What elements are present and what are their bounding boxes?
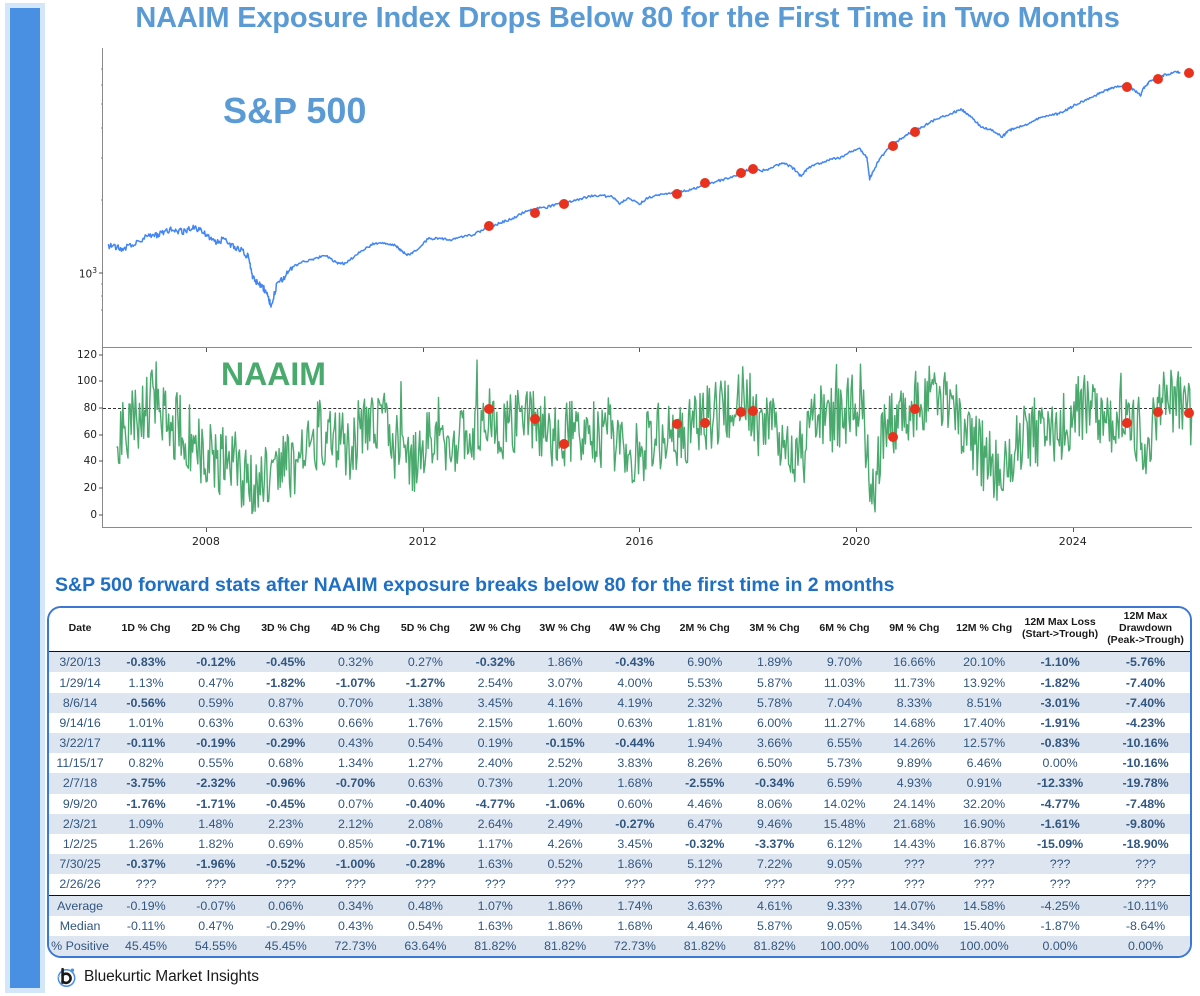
cell-value: 3.66% <box>740 733 810 753</box>
cell-value: 5.12% <box>670 854 740 874</box>
cell-value: 4.46% <box>670 916 740 936</box>
table-subtitle: S&P 500 forward stats after NAAIM exposu… <box>55 574 894 597</box>
cell-value: 81.82% <box>460 936 530 956</box>
cell-value: 0.63% <box>251 713 321 733</box>
spx-signal-marker <box>1184 68 1194 78</box>
spx-line-series <box>103 48 1192 348</box>
table-row[interactable]: 8/6/14-0.56%0.59%0.87%0.70%1.38%3.45%4.1… <box>49 693 1190 713</box>
cell-value: 81.82% <box>740 936 810 956</box>
naaim-signal-marker <box>736 407 746 417</box>
spx-ytick-minor <box>101 104 104 105</box>
cell-value: 15.48% <box>810 814 880 834</box>
column-header-2m-chg[interactable]: 2M % Chg <box>670 608 740 652</box>
spx-plot-area: S&P 500 103 <box>103 48 1192 348</box>
cell-value: 14.26% <box>879 733 949 753</box>
cell-value: 8.06% <box>740 794 810 814</box>
cell-value: 2.23% <box>251 814 321 834</box>
column-header-4w-chg[interactable]: 4W % Chg <box>600 608 670 652</box>
cell-value: 100.00% <box>949 936 1019 956</box>
cell-negative: -4.77% <box>1019 794 1101 814</box>
naaim-ytick <box>99 408 103 409</box>
naaim-xtick <box>639 528 640 532</box>
cell-value: 21.68% <box>879 814 949 834</box>
cell-negative: -10.16% <box>1101 753 1190 773</box>
cell-value: 0.54% <box>390 916 460 936</box>
cell-value: 3.63% <box>670 895 740 916</box>
cell-negative: -0.83% <box>111 652 181 673</box>
cell-value: 6.50% <box>740 753 810 773</box>
cell-value: 100.00% <box>810 936 880 956</box>
cell-value: 8.26% <box>670 753 740 773</box>
cell-value: 0.00% <box>1101 936 1190 956</box>
naaim-xtick <box>423 528 424 532</box>
cell-negative: -0.40% <box>390 794 460 814</box>
cell-negative: -0.28% <box>390 854 460 874</box>
naaim-xtick <box>856 528 857 532</box>
cell-negative: -0.52% <box>251 854 321 874</box>
cell-value: 0.69% <box>251 834 321 854</box>
row-date: 3/22/17 <box>49 733 111 753</box>
footer: Bluekurtic Market Insights <box>56 966 259 987</box>
cell-value: 1.89% <box>740 652 810 673</box>
spx-signal-marker <box>559 199 569 209</box>
row-date: 7/30/25 <box>49 854 111 874</box>
cell-value: 0.06% <box>251 895 321 916</box>
cell-value: 2.15% <box>460 713 530 733</box>
summary-row[interactable]: Median-0.11%0.47%-0.29%0.43%0.54%1.63%1.… <box>49 916 1190 936</box>
cell-value: 0.27% <box>390 652 460 673</box>
table-row[interactable]: 2/26/26?????????????????????????????????… <box>49 874 1190 895</box>
table-row[interactable]: 2/7/18-3.75%-2.32%-0.96%-0.70%0.63%0.73%… <box>49 773 1190 793</box>
summary-row-label: Average <box>49 895 111 916</box>
cell-value: 24.14% <box>879 794 949 814</box>
column-header-3w-chg[interactable]: 3W % Chg <box>530 608 600 652</box>
cell-value: 2.08% <box>390 814 460 834</box>
cell-unknown: ??? <box>879 874 949 895</box>
cell-unknown: ??? <box>321 874 391 895</box>
naaim-ytick <box>99 514 103 515</box>
cell-value: 0.19% <box>460 733 530 753</box>
naaim-x-axis <box>102 527 1192 528</box>
column-header-3m-chg[interactable]: 3M % Chg <box>740 608 810 652</box>
table-row[interactable]: 9/14/161.01%0.63%0.63%0.66%1.76%2.15%1.6… <box>49 713 1190 733</box>
naaim-signal-marker <box>888 432 898 442</box>
spx-ytick-minor <box>101 68 104 69</box>
column-header-3d-chg[interactable]: 3D % Chg <box>251 608 321 652</box>
footer-brand: Bluekurtic Market Insights <box>84 968 259 986</box>
cell-negative: -1.27% <box>390 672 460 692</box>
cell-negative: -7.48% <box>1101 794 1190 814</box>
spx-signal-marker <box>530 208 540 218</box>
row-date: 11/15/17 <box>49 753 111 773</box>
cell-value: 5.53% <box>670 672 740 692</box>
table-row[interactable]: 7/30/25-0.37%-1.96%-0.52%-1.00%-0.28%1.6… <box>49 854 1190 874</box>
cell-value: 1.94% <box>670 733 740 753</box>
cell-value: 0.70% <box>321 693 391 713</box>
column-header-5d-chg[interactable]: 5D % Chg <box>390 608 460 652</box>
cell-value: 16.66% <box>879 652 949 673</box>
cell-value: 6.59% <box>810 773 880 793</box>
column-header-12m-max-drawdown[interactable]: 12M Max Drawdown(Peak->Trough) <box>1101 608 1190 652</box>
summary-row[interactable]: % Positive45.45%54.55%45.45%72.73%63.64%… <box>49 936 1190 956</box>
cell-negative: -1.61% <box>1019 814 1101 834</box>
naaim-ytick-label-100: 100 <box>77 375 97 387</box>
cell-negative: -1.00% <box>321 854 391 874</box>
cell-negative: -0.12% <box>181 652 251 673</box>
cell-negative: -1.71% <box>181 794 251 814</box>
sp500-price-chart: S&P 500 103 <box>55 48 1200 348</box>
cell-value: 2.52% <box>530 753 600 773</box>
cell-value: 0.68% <box>251 753 321 773</box>
cell-negative: -10.11% <box>1101 895 1190 916</box>
cell-value: 2.49% <box>530 814 600 834</box>
cell-negative: -0.96% <box>251 773 321 793</box>
cell-unknown: ??? <box>1101 874 1190 895</box>
cell-value: 0.43% <box>321 733 391 753</box>
cell-negative: -7.40% <box>1101 693 1190 713</box>
cell-value: 0.59% <box>181 693 251 713</box>
cell-unknown: ??? <box>1101 854 1190 874</box>
naaim-signal-marker <box>1184 408 1194 418</box>
cell-value: 2.12% <box>321 814 391 834</box>
naaim-signal-marker <box>1153 407 1163 417</box>
cell-value: 1.86% <box>530 916 600 936</box>
spx-ytick-label-1000: 103 <box>79 265 97 280</box>
naaim-ytick <box>99 434 103 435</box>
cell-value: 0.43% <box>321 916 391 936</box>
column-header-4d-chg[interactable]: 4D % Chg <box>321 608 391 652</box>
row-date: 9/14/16 <box>49 713 111 733</box>
cell-value: 9.89% <box>879 753 949 773</box>
cell-value: 4.26% <box>530 834 600 854</box>
cell-negative: -4.77% <box>460 794 530 814</box>
page-title: NAAIM Exposure Index Drops Below 80 for … <box>60 2 1195 35</box>
cell-unknown: ??? <box>670 874 740 895</box>
cell-value: 12.57% <box>949 733 1019 753</box>
cell-negative: -12.33% <box>1019 773 1101 793</box>
cell-value: 1.48% <box>181 814 251 834</box>
cell-value: 2.54% <box>460 672 530 692</box>
cell-negative: -3.01% <box>1019 693 1101 713</box>
table-row[interactable]: 1/2/251.26%1.82%0.69%0.85%-0.71%1.17%4.2… <box>49 834 1190 854</box>
cell-value: 1.68% <box>600 916 670 936</box>
naaim-signal-marker <box>700 418 710 428</box>
cell-value: 0.91% <box>949 773 1019 793</box>
cell-value: 14.43% <box>879 834 949 854</box>
b-logo-icon <box>56 966 77 987</box>
cell-value: 14.68% <box>879 713 949 733</box>
cell-value: 0.66% <box>321 713 391 733</box>
table-row[interactable]: 1/29/141.13%0.47%-1.82%-1.07%-1.27%2.54%… <box>49 672 1190 692</box>
cell-negative: -3.37% <box>740 834 810 854</box>
spx-ytick-minor <box>101 85 104 86</box>
cell-value: 6.12% <box>810 834 880 854</box>
naaim-xtick-label-2012: 2012 <box>409 535 437 548</box>
cell-negative: -3.75% <box>111 773 181 793</box>
naaim-xtick <box>206 528 207 532</box>
cell-value: 0.00% <box>1019 936 1101 956</box>
cell-value: 2.32% <box>670 693 740 713</box>
row-date: 1/2/25 <box>49 834 111 854</box>
cell-negative: -0.29% <box>251 733 321 753</box>
cell-value: 3.45% <box>460 693 530 713</box>
cell-value: 16.87% <box>949 834 1019 854</box>
cell-negative: -0.32% <box>670 834 740 854</box>
cell-unknown: ??? <box>949 854 1019 874</box>
row-date: 2/26/26 <box>49 874 111 895</box>
table-row[interactable]: 3/20/13-0.83%-0.12%-0.45%0.32%0.27%-0.32… <box>49 652 1190 673</box>
spx-signal-marker <box>700 178 710 188</box>
cell-value: 1.86% <box>530 652 600 673</box>
summary-row-label: % Positive <box>49 936 111 956</box>
cell-value: 5.87% <box>740 916 810 936</box>
cell-value: 1.01% <box>111 713 181 733</box>
cell-value: 9.05% <box>810 854 880 874</box>
cell-unknown: ??? <box>879 854 949 874</box>
naaim-signal-marker <box>559 439 569 449</box>
cell-value: 1.17% <box>460 834 530 854</box>
cell-value: 1.20% <box>530 773 600 793</box>
cell-value: 45.45% <box>111 936 181 956</box>
cell-negative: -1.07% <box>321 672 391 692</box>
cell-value: 13.92% <box>949 672 1019 692</box>
cell-negative: -0.27% <box>600 814 670 834</box>
summary-row[interactable]: Average-0.19%-0.07%0.06%0.34%0.48%1.07%1… <box>49 895 1190 916</box>
naaim-signal-marker <box>672 419 682 429</box>
spx-ytick-minor <box>101 283 104 284</box>
cell-negative: -1.76% <box>111 794 181 814</box>
table-row[interactable]: 9/9/20-1.76%-1.71%-0.45%0.07%-0.40%-4.77… <box>49 794 1190 814</box>
cell-value: 15.40% <box>949 916 1019 936</box>
table-row[interactable]: 11/15/170.82%0.55%0.68%1.34%1.27%2.40%2.… <box>49 753 1190 773</box>
cell-negative: -0.34% <box>740 773 810 793</box>
cell-negative: -0.11% <box>111 733 181 753</box>
naaim-signal-marker <box>748 406 758 416</box>
cell-negative: -15.09% <box>1019 834 1101 854</box>
cell-value: 1.27% <box>390 753 460 773</box>
cell-unknown: ??? <box>949 874 1019 895</box>
naaim-ytick-label-120: 120 <box>77 349 97 361</box>
naaim-ytick-label-40: 40 <box>84 455 97 467</box>
cell-value: 0.07% <box>321 794 391 814</box>
cell-value: 0.60% <box>600 794 670 814</box>
cell-negative: -1.06% <box>530 794 600 814</box>
column-header-12m-chg[interactable]: 12M % Chg <box>949 608 1019 652</box>
cell-value: 8.51% <box>949 693 1019 713</box>
cell-value: 1.74% <box>600 895 670 916</box>
naaim-ytick <box>99 461 103 462</box>
cell-negative: -9.80% <box>1101 814 1190 834</box>
cell-value: 1.63% <box>460 916 530 936</box>
cell-negative: -0.43% <box>600 652 670 673</box>
cell-negative: -1.10% <box>1019 652 1101 673</box>
naaim-ytick <box>99 381 103 382</box>
column-header-2d-chg[interactable]: 2D % Chg <box>181 608 251 652</box>
cell-value: 0.55% <box>181 753 251 773</box>
cell-negative: -0.37% <box>111 854 181 874</box>
row-date: 9/9/20 <box>49 794 111 814</box>
cell-value: 3.07% <box>530 672 600 692</box>
table-header-row: Date1D % Chg2D % Chg3D % Chg4D % Chg5D %… <box>49 608 1190 652</box>
row-date: 2/3/21 <box>49 814 111 834</box>
row-date: 3/20/13 <box>49 652 111 673</box>
cell-value: 72.73% <box>321 936 391 956</box>
cell-value: 0.85% <box>321 834 391 854</box>
cell-value: 1.09% <box>111 814 181 834</box>
cell-value: 9.46% <box>740 814 810 834</box>
cell-value: 6.55% <box>810 733 880 753</box>
cell-value: 1.07% <box>460 895 530 916</box>
column-header-6m-chg[interactable]: 6M % Chg <box>810 608 880 652</box>
naaim-signal-marker <box>1122 418 1132 428</box>
cell-value: 6.47% <box>670 814 740 834</box>
cell-value: 14.07% <box>879 895 949 916</box>
charts-container: S&P 500 103 NAAIM 0204060801001202008201… <box>55 48 1200 558</box>
column-header-1d-chg[interactable]: 1D % Chg <box>111 608 181 652</box>
cell-value: 1.26% <box>111 834 181 854</box>
cell-value: 9.70% <box>810 652 880 673</box>
spx-signal-marker <box>484 221 494 231</box>
cell-unknown: ??? <box>530 874 600 895</box>
cell-value: 81.82% <box>530 936 600 956</box>
cell-unknown: ??? <box>181 874 251 895</box>
cell-negative: -5.76% <box>1101 652 1190 673</box>
spx-ytick-minor <box>101 157 104 158</box>
cell-unknown: ??? <box>1019 874 1101 895</box>
cell-negative: -4.25% <box>1019 895 1101 916</box>
cell-negative: -2.55% <box>670 773 740 793</box>
cell-value: 6.46% <box>949 753 1019 773</box>
cell-value: 11.27% <box>810 713 880 733</box>
cell-value: 32.20% <box>949 794 1019 814</box>
cell-negative: -0.32% <box>460 652 530 673</box>
spx-signal-marker <box>910 127 920 137</box>
cell-negative: -1.91% <box>1019 713 1101 733</box>
cell-negative: -0.19% <box>181 733 251 753</box>
naaim-xtick-label-2008: 2008 <box>192 535 220 548</box>
cell-negative: -0.45% <box>251 794 321 814</box>
cell-value: 0.63% <box>600 713 670 733</box>
cell-value: 3.45% <box>600 834 670 854</box>
cell-value: 45.45% <box>251 936 321 956</box>
cell-negative: -2.32% <box>181 773 251 793</box>
cell-negative: -8.64% <box>1101 916 1190 936</box>
cell-negative: -1.82% <box>251 672 321 692</box>
cell-value: 7.04% <box>810 693 880 713</box>
cell-value: 0.34% <box>321 895 391 916</box>
naaim-signal-marker <box>484 404 494 414</box>
cell-value: 0.48% <box>390 895 460 916</box>
cell-unknown: ??? <box>600 874 670 895</box>
spx-ytick-minor <box>101 309 104 310</box>
naaim-ytick <box>99 488 103 489</box>
cell-value: 4.46% <box>670 794 740 814</box>
table-row[interactable]: 3/22/17-0.11%-0.19%-0.29%0.43%0.54%0.19%… <box>49 733 1190 753</box>
row-date: 2/7/18 <box>49 773 111 793</box>
spx-signal-marker <box>736 168 746 178</box>
naaim-ytick-label-60: 60 <box>84 429 97 441</box>
row-date: 1/29/14 <box>49 672 111 692</box>
naaim-ytick <box>99 354 103 355</box>
cell-value: 4.61% <box>740 895 810 916</box>
cell-value: 2.64% <box>460 814 530 834</box>
cell-value: 1.86% <box>530 895 600 916</box>
cell-negative: -0.83% <box>1019 733 1101 753</box>
column-header-12m-max-loss[interactable]: 12M Max Loss(Start->Trough) <box>1019 608 1101 652</box>
naaim-ytick-label-0: 0 <box>90 509 97 521</box>
row-date: 8/6/14 <box>49 693 111 713</box>
cell-negative: -0.71% <box>390 834 460 854</box>
cell-negative: -4.23% <box>1101 713 1190 733</box>
cell-value: 63.64% <box>390 936 460 956</box>
cell-negative: -0.07% <box>181 895 251 916</box>
cell-unknown: ??? <box>740 874 810 895</box>
cell-value: 0.47% <box>181 916 251 936</box>
cell-value: 0.54% <box>390 733 460 753</box>
cell-value: 17.40% <box>949 713 1019 733</box>
cell-negative: -0.44% <box>600 733 670 753</box>
cell-value: 4.00% <box>600 672 670 692</box>
cell-value: 5.78% <box>740 693 810 713</box>
spx-signal-marker <box>888 141 898 151</box>
cell-value: 14.58% <box>949 895 1019 916</box>
cell-value: 14.02% <box>810 794 880 814</box>
cell-value: 11.73% <box>879 672 949 692</box>
cell-value: 9.33% <box>810 895 880 916</box>
cell-unknown: ??? <box>460 874 530 895</box>
cell-value: 1.63% <box>460 854 530 874</box>
cell-negative: -1.87% <box>1019 916 1101 936</box>
naaim-line-series <box>103 348 1192 528</box>
cell-value: 1.38% <box>390 693 460 713</box>
spx-ytick-minor <box>101 127 104 128</box>
cell-value: 1.68% <box>600 773 670 793</box>
cell-negative: -7.40% <box>1101 672 1190 692</box>
cell-value: 3.83% <box>600 753 670 773</box>
cell-value: 0.63% <box>390 773 460 793</box>
cell-value: 11.03% <box>810 672 880 692</box>
cell-value: 20.10% <box>949 652 1019 673</box>
cell-value: 81.82% <box>670 936 740 956</box>
cell-value: 1.81% <box>670 713 740 733</box>
column-header-2w-chg[interactable]: 2W % Chg <box>460 608 530 652</box>
table-row[interactable]: 2/3/211.09%1.48%2.23%2.12%2.08%2.64%2.49… <box>49 814 1190 834</box>
column-header-9m-chg[interactable]: 9M % Chg <box>879 608 949 652</box>
cell-negative: -1.82% <box>1019 672 1101 692</box>
cell-value: 4.93% <box>879 773 949 793</box>
column-header-date[interactable]: Date <box>49 608 111 652</box>
cell-value: 1.13% <box>111 672 181 692</box>
table-body: 3/20/13-0.83%-0.12%-0.45%0.32%0.27%-0.32… <box>49 652 1190 956</box>
cell-value: 4.16% <box>530 693 600 713</box>
spx-signal-marker <box>1153 74 1163 84</box>
spx-ytick-minor <box>101 200 104 201</box>
cell-value: 0.82% <box>111 753 181 773</box>
cell-value: 6.00% <box>740 713 810 733</box>
cell-value: 6.90% <box>670 652 740 673</box>
spx-ytick-major <box>99 272 103 273</box>
naaim-ytick-label-20: 20 <box>84 482 97 494</box>
cell-negative: -18.90% <box>1101 834 1190 854</box>
cell-negative: -0.19% <box>111 895 181 916</box>
cell-negative: -0.45% <box>251 652 321 673</box>
cell-value: 1.82% <box>181 834 251 854</box>
cell-negative: -19.78% <box>1101 773 1190 793</box>
spx-signal-marker <box>748 164 758 174</box>
naaim-signal-marker <box>530 414 540 424</box>
cell-unknown: ??? <box>251 874 321 895</box>
cell-value: 0.47% <box>181 672 251 692</box>
